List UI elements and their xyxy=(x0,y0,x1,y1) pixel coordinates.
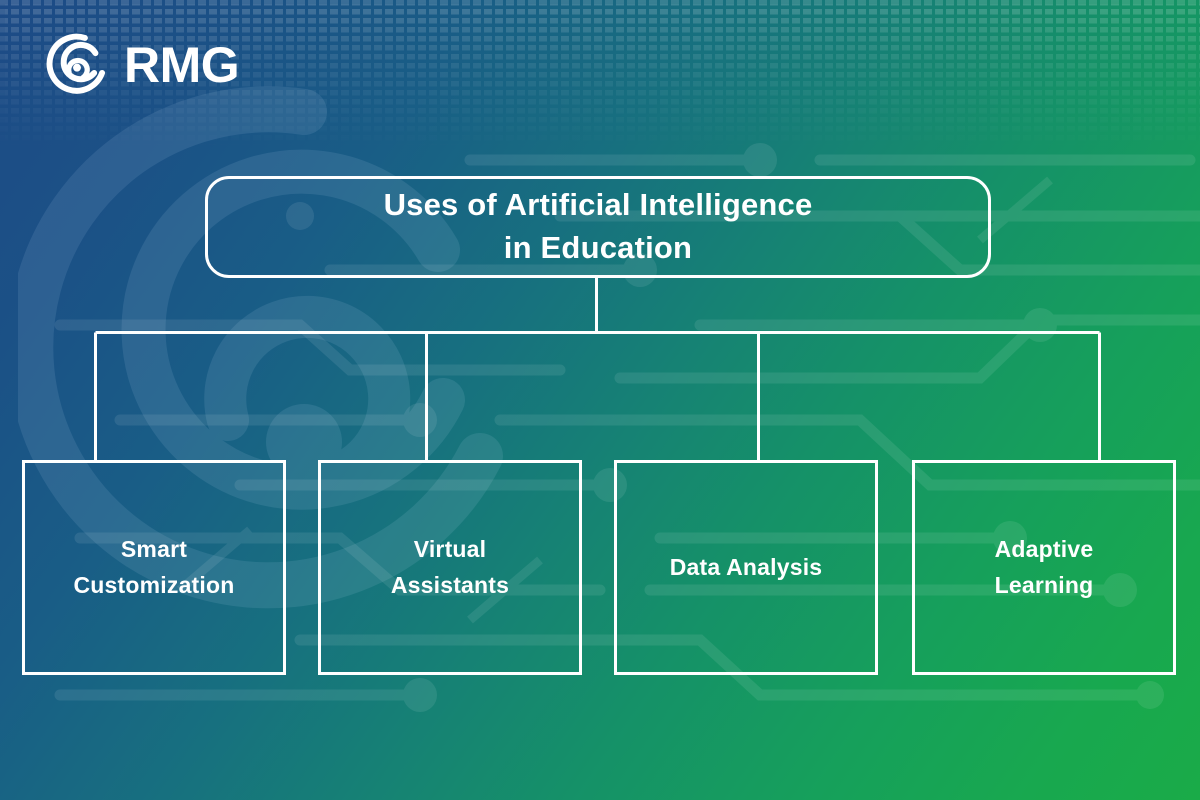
node-label-line-2: Learning xyxy=(995,572,1094,598)
node-label-line-2: Assistants xyxy=(391,572,509,598)
node-label: Virtual Assistants xyxy=(381,532,519,603)
node-label-line-1: Data Analysis xyxy=(670,554,823,580)
diagram-node-adaptive-learning: Adaptive Learning xyxy=(912,460,1176,675)
node-label-line-1: Adaptive xyxy=(995,536,1094,562)
node-label-line-1: Virtual xyxy=(414,536,487,562)
diagram-root-node: Uses of Artificial Intelligence in Educa… xyxy=(205,176,991,278)
diagram-node-data-analysis: Data Analysis xyxy=(614,460,878,675)
node-label-line-1: Smart xyxy=(121,536,187,562)
diagram-title-line-1: Uses of Artificial Intelligence xyxy=(384,187,813,222)
diagram-node-virtual-assistants: Virtual Assistants xyxy=(318,460,582,675)
node-label: Data Analysis xyxy=(660,550,833,586)
diagram-title-line-2: in Education xyxy=(504,230,692,265)
node-label: Adaptive Learning xyxy=(985,532,1104,603)
diagram-node-smart-customization: Smart Customization xyxy=(22,460,286,675)
node-label: Smart Customization xyxy=(63,532,244,603)
infographic-canvas: RMG Uses of Artificial Intelligence in E… xyxy=(0,0,1200,800)
diagram-title: Uses of Artificial Intelligence in Educa… xyxy=(360,184,837,270)
tree-connectors xyxy=(0,0,1200,800)
node-label-line-2: Customization xyxy=(73,572,234,598)
